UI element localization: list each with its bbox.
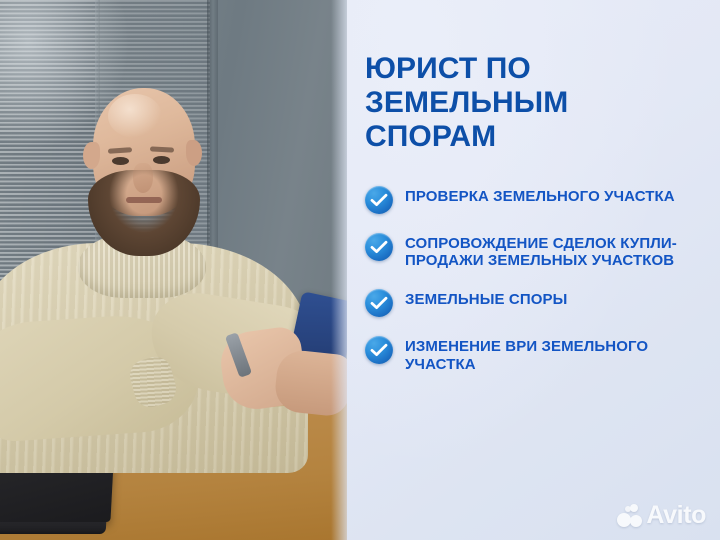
mouth <box>126 197 162 203</box>
check-circle-icon <box>365 233 393 261</box>
left-eye <box>112 157 129 165</box>
photo-edge-fade <box>331 0 347 540</box>
head-highlight <box>108 94 162 138</box>
check-circle-icon <box>365 336 393 364</box>
avito-dot-small <box>630 504 638 512</box>
person-figure <box>0 0 347 540</box>
advertisement-banner: ЮРИСТ ПО ЗЕМЕЛЬНЫМ СПОРАМ ПРОВЕРКА ЗЕМЕЛ… <box>0 0 720 540</box>
right-ear <box>186 140 202 166</box>
left-ear <box>83 142 100 169</box>
avito-dot-medium <box>630 515 642 527</box>
right-eye <box>153 156 170 164</box>
title-line-1: ЮРИСТ ПО <box>365 52 704 86</box>
lawyer-photo <box>0 0 347 540</box>
check-circle-icon <box>365 186 393 214</box>
avito-dot-large <box>617 513 631 527</box>
title-line-3: СПОРАМ <box>365 120 704 154</box>
feature-list: ПРОВЕРКА ЗЕМЕЛЬНОГО УЧАСТКА СОПРОВОЖДЕНИ… <box>365 185 704 374</box>
title-line-2: ЗЕМЕЛЬНЫМ <box>365 86 704 120</box>
avito-dots-logo-icon <box>617 504 643 528</box>
check-circle-icon <box>365 289 393 317</box>
list-item: СОПРОВОЖДЕНИЕ СДЕЛОК КУПЛИ-ПРОДАЖИ ЗЕМЕЛ… <box>365 232 704 270</box>
feature-label: ЗЕМЕЛЬНЫЕ СПОРЫ <box>405 288 567 309</box>
feature-label: СОПРОВОЖДЕНИЕ СДЕЛОК КУПЛИ-ПРОДАЖИ ЗЕМЕЛ… <box>405 232 704 270</box>
avito-wordmark: Avito <box>646 503 706 528</box>
avito-watermark: Avito <box>617 503 706 528</box>
feature-label: ИЗМЕНЕНИЕ ВРИ ЗЕМЕЛЬНОГО УЧАСТКА <box>405 335 704 373</box>
nose <box>133 163 153 193</box>
list-item: ИЗМЕНЕНИЕ ВРИ ЗЕМЕЛЬНОГО УЧАСТКА <box>365 335 704 373</box>
feature-label: ПРОВЕРКА ЗЕМЕЛЬНОГО УЧАСТКА <box>405 185 675 206</box>
list-item: ЗЕМЕЛЬНЫЕ СПОРЫ <box>365 288 704 317</box>
page-title: ЮРИСТ ПО ЗЕМЕЛЬНЫМ СПОРАМ <box>365 52 704 155</box>
avito-dot-tiny <box>625 506 631 512</box>
info-panel: ЮРИСТ ПО ЗЕМЕЛЬНЫМ СПОРАМ ПРОВЕРКА ЗЕМЕЛ… <box>347 0 720 540</box>
list-item: ПРОВЕРКА ЗЕМЕЛЬНОГО УЧАСТКА <box>365 185 704 214</box>
